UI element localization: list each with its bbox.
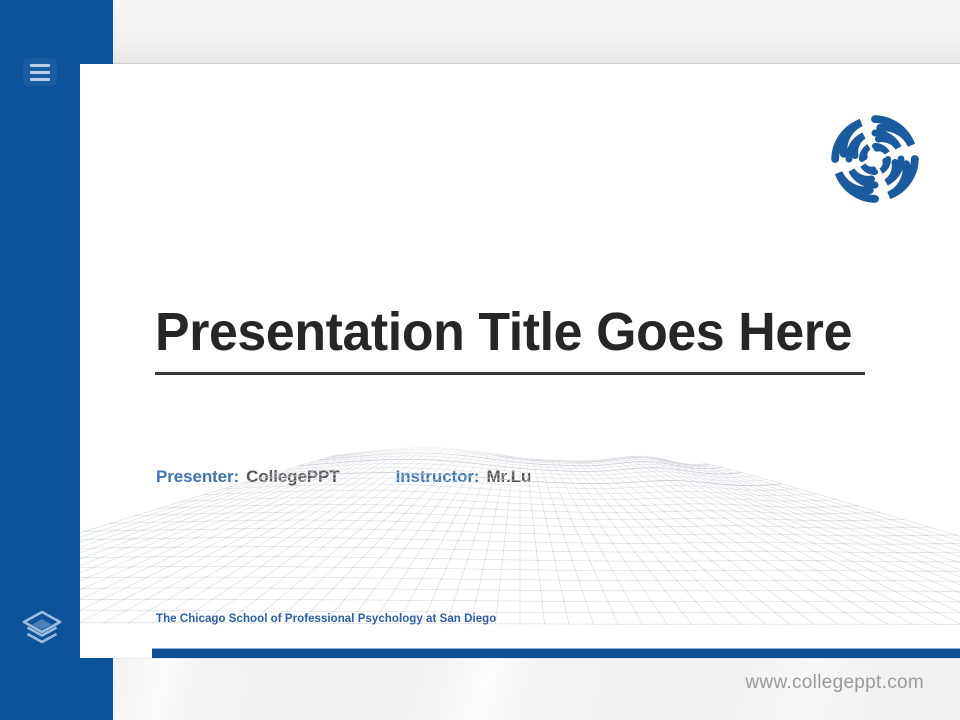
slide-bottom-blue-bar [152, 649, 960, 658]
chicago-school-knot-logo [823, 107, 927, 211]
instructor-value: Mr.Lu [486, 467, 531, 487]
watermark-url: www.collegeppt.com [745, 672, 924, 694]
slide-title: Presentation Title Goes Here [155, 304, 840, 361]
layers-stack-icon [18, 604, 66, 652]
hamburger-menu-icon-bar [30, 78, 50, 81]
title-block: Presentation Title Goes Here [155, 304, 869, 375]
layers-stack-button[interactable] [18, 604, 66, 652]
title-underline-rule [155, 372, 865, 375]
page-backdrop-top-strip [0, 0, 960, 64]
presenter-label: Presenter: [156, 467, 239, 487]
presenter-instructor-line: Presenter: CollegePPT Instructor: Mr.Lu [156, 467, 531, 487]
slide-canvas: Presentation Title Goes Here Presenter: … [80, 64, 960, 658]
instructor-label: Instructor: [396, 467, 480, 487]
hamburger-menu-button[interactable] [23, 58, 57, 86]
presentation-viewer: Presentation Title Goes Here Presenter: … [0, 0, 960, 720]
slide-footnote: The Chicago School of Professional Psych… [156, 613, 496, 625]
hamburger-menu-icon-bar [30, 64, 50, 67]
presenter-value: CollegePPT [246, 467, 339, 487]
hamburger-menu-icon-bar [30, 71, 50, 74]
